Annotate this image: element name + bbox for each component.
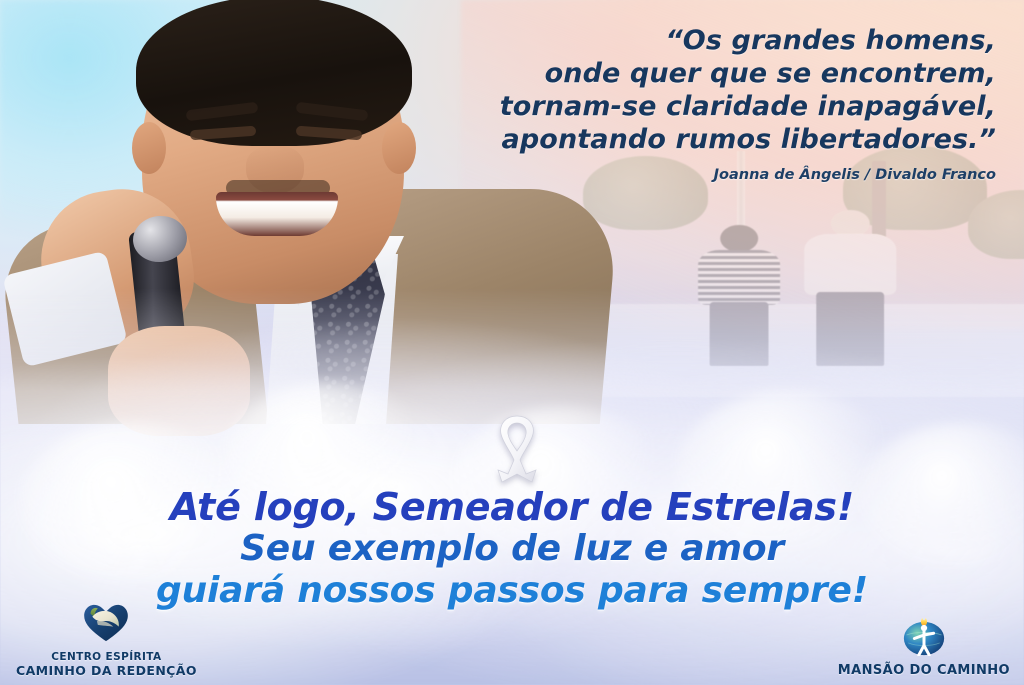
quote-line-1: “Os grandes homens, <box>436 24 996 57</box>
logo-right-line-2: MANSÃO DO CAMINHO <box>838 664 1010 677</box>
logo-left-label: CENTRO ESPÍRITA CAMINHO DA REDENÇÃO <box>16 651 197 677</box>
quote-line-3: tornam-se claridade inapagável, <box>436 90 996 123</box>
logo-right-label: MANSÃO DO CAMINHO <box>838 664 1010 677</box>
quote-line-2: onde quer que se encontrem, <box>436 57 996 90</box>
headline-block: Até logo, Semeador de Estrelas! Seu exem… <box>0 486 1024 612</box>
tribute-poster: “Os grandes homens, onde quer que se enc… <box>0 0 1024 685</box>
globe-figure-flame-icon <box>902 614 946 661</box>
headline-line-1: Até logo, Semeador de Estrelas! <box>0 486 1024 528</box>
headline-line-2: Seu exemplo de luz e amor <box>0 528 1024 570</box>
white-mourning-ribbon-icon <box>486 412 548 488</box>
quote-block: “Os grandes homens, onde quer que se enc… <box>436 24 996 183</box>
logo-centro-espirita-caminho-da-redencao: CENTRO ESPÍRITA CAMINHO DA REDENÇÃO <box>16 603 197 677</box>
quote-line-4: apontando rumos libertadores.” <box>436 123 996 156</box>
quote-attribution: Joanna de Ângelis / Divaldo Franco <box>436 167 996 183</box>
heart-hands-icon <box>80 603 132 648</box>
logo-mansao-do-caminho: MANSÃO DO CAMINHO <box>838 614 1010 677</box>
logo-left-line-2: CAMINHO DA REDENÇÃO <box>16 664 197 677</box>
